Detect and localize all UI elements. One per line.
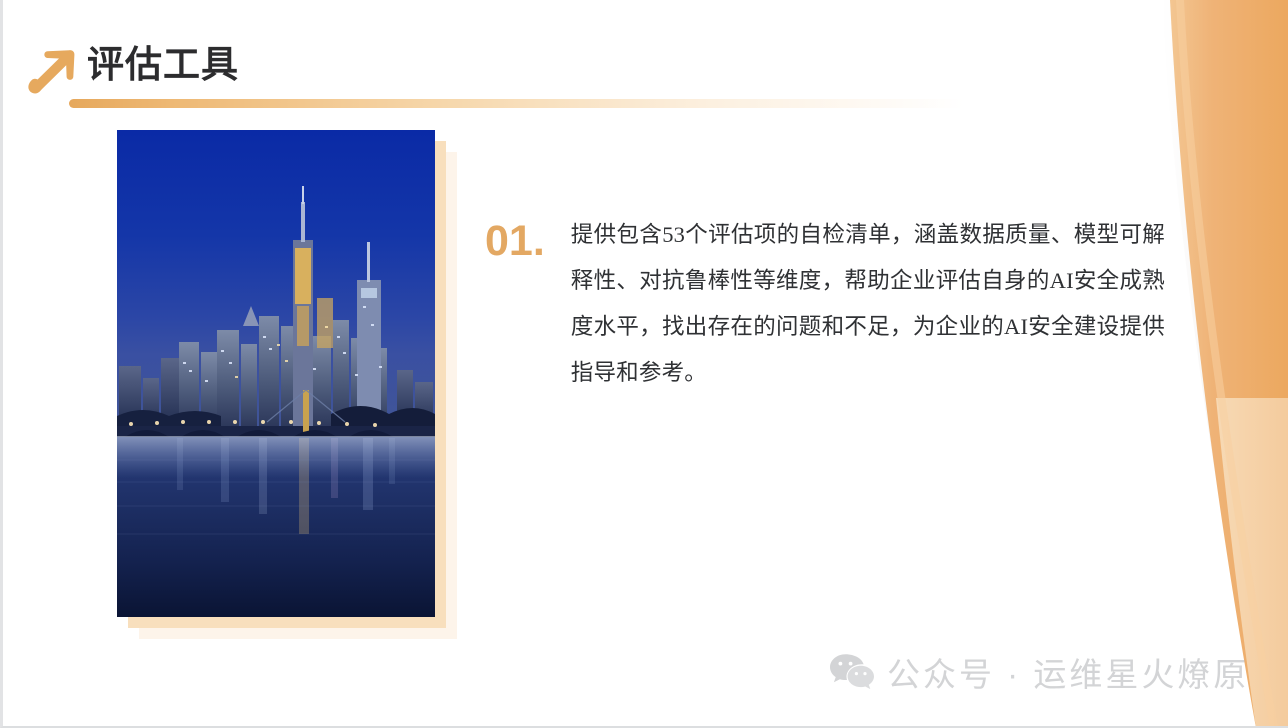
list-item: 01. 提供包含53个评估项的自检清单，涵盖数据质量、模型可解释性、对抗鲁棒性等… xyxy=(485,212,1165,397)
item-body-text: 提供包含53个评估项的自检清单，涵盖数据质量、模型可解释性、对抗鲁棒性等维度，帮… xyxy=(571,212,1165,397)
content-area: 01. 提供包含53个评估项的自检清单，涵盖数据质量、模型可解释性、对抗鲁棒性等… xyxy=(485,212,1165,397)
slide-canvas: 评估工具 xyxy=(0,0,1288,728)
item-number: 01. xyxy=(485,220,545,263)
wechat-icon xyxy=(829,652,875,692)
slide-header: 评估工具 xyxy=(3,0,1288,120)
watermark-text: 公众号 · 运维星火燎原 xyxy=(887,648,1249,696)
watermark: 公众号 · 运维星火燎原 xyxy=(829,648,1249,696)
title-underline-rule xyxy=(69,99,964,108)
page-title: 评估工具 xyxy=(87,44,239,87)
arrow-up-right-icon xyxy=(21,40,79,96)
city-skyline-night-photo xyxy=(117,130,435,617)
